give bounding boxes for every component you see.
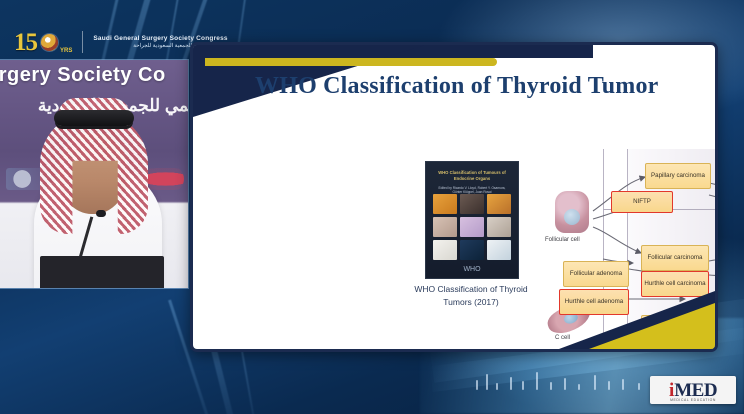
diagram-band-poorly-differentiated (717, 149, 718, 352)
axis-label-line2: Borderline tumor (569, 351, 639, 352)
axis-label-line2: cancer (637, 351, 713, 352)
box-niftp: NIFTP (611, 191, 673, 213)
logo-divider (82, 31, 83, 53)
computer-use-screenshot: 15 YRS Saudi General Surgery Society Con… (0, 0, 744, 414)
book-cover-subtitle: Edited by Ricardo V. Lloyd, Robert Y. Os… (434, 186, 510, 194)
presenter-video-feed[interactable]: urgery Society Co لمي للجمعية السعودية (0, 60, 188, 288)
podium-laptop (40, 256, 164, 288)
imed-logo-med: MED (674, 381, 717, 400)
who-book-cover: WHO Classification of Tumours of Endocri… (425, 161, 519, 279)
congress-seal-icon (41, 34, 58, 51)
diagram-divider (717, 149, 718, 339)
book-caption: WHO Classification of Thyroid Tumors (20… (407, 283, 535, 309)
book-cover-thumbnails (433, 194, 511, 260)
presentation-slide[interactable]: WHO Classification of Thyroid Tumor WHO … (190, 42, 718, 352)
box-follicular-carcinoma: Follicular carcinoma (641, 245, 709, 271)
speaker-igal (54, 110, 134, 126)
imed-logo-subtitle: MEDICAL EDUCATION (650, 398, 736, 402)
box-hurthle-cell-carcinoma: Hurthle cell carcinoma (641, 271, 709, 297)
imed-watermark-logo: i MED MEDICAL EDUCATION (650, 376, 736, 404)
microphone-head-icon (96, 210, 106, 217)
congress-logo-years: YRS (60, 48, 72, 54)
box-papillary-carcinoma: Papillary carcinoma (645, 163, 711, 189)
congress-logo-number: 15 (14, 30, 37, 55)
slide-yellow-accent-bar (205, 58, 497, 66)
box-hurthle-cell-adenoma: Hurthle cell adenoma (559, 289, 629, 315)
book-cover-who-mark: WHO (426, 266, 518, 273)
box-follicular-adenoma: Follicular adenoma (563, 261, 629, 287)
backdrop-banner-text: urgery Society Co (0, 64, 188, 87)
slide-title: WHO Classification of Thyroid Tumor (255, 73, 705, 100)
book-cover-title: WHO Classification of Tumours of Endocri… (434, 170, 510, 183)
